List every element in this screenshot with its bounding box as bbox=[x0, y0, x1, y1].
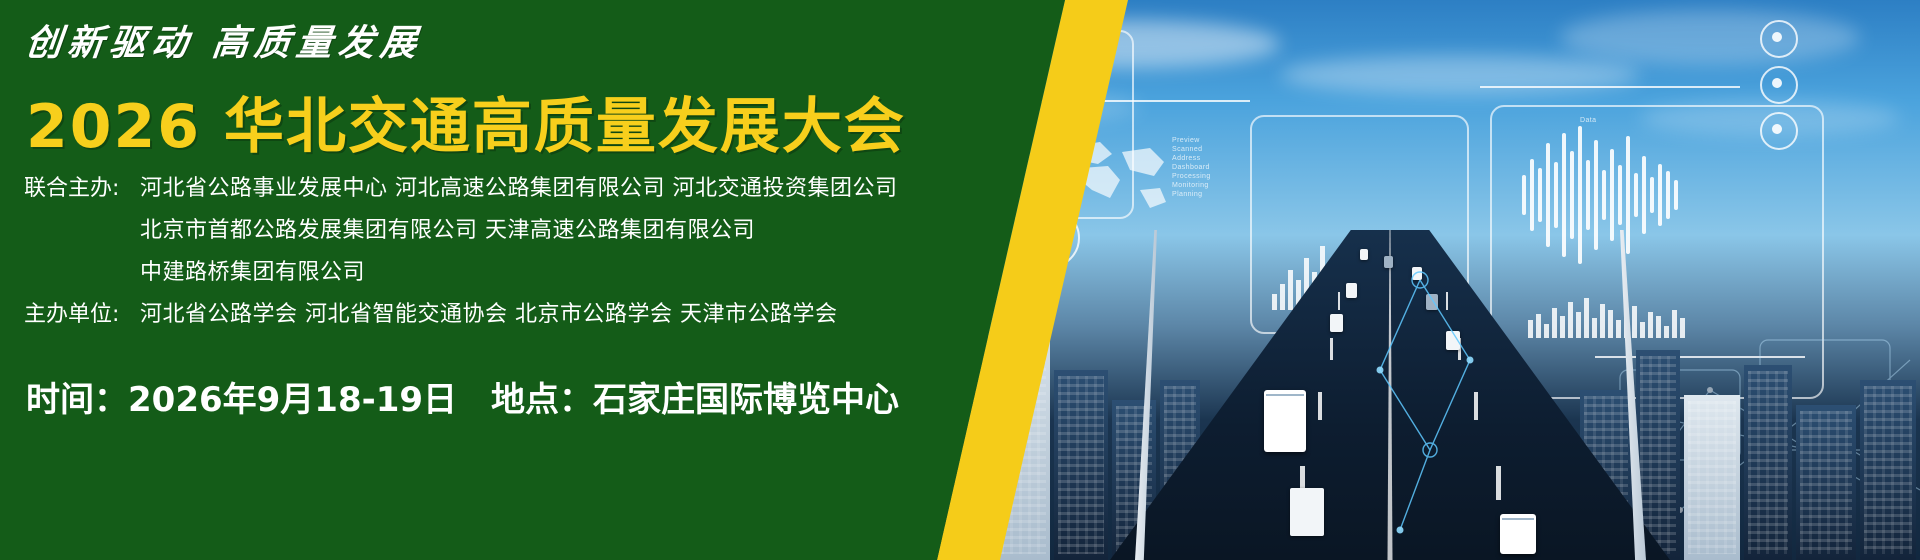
building bbox=[1860, 380, 1916, 560]
hud-label-left: Preview Scanned Address Dashboard Proces… bbox=[1172, 136, 1211, 199]
vehicle bbox=[1446, 331, 1460, 350]
node-dot-icon bbox=[1772, 124, 1782, 134]
host-value: 河北省公路学会 河北省智能交通协会 北京市公路学会 天津市公路学会 bbox=[140, 294, 837, 336]
truck bbox=[1500, 514, 1536, 554]
lane-marking bbox=[1330, 338, 1333, 360]
organizer-value: 河北省公路事业发展中心 河北高速公路集团有限公司 河北交通投资集团公司 bbox=[140, 168, 898, 210]
node-dot-icon bbox=[1772, 78, 1782, 88]
organizers-block: 联合主办: 河北省公路事业发展中心 河北高速公路集团有限公司 河北交通投资集团公… bbox=[24, 168, 1024, 336]
lane-marking bbox=[1318, 392, 1322, 420]
organizer-value: 中建路桥集团有限公司 bbox=[140, 252, 365, 294]
hud-label-right: Data bbox=[1580, 116, 1596, 125]
lane-marking bbox=[1496, 466, 1501, 500]
event-time: 时间： 2026年9月18-19日 bbox=[26, 372, 457, 421]
conference-banner: Preview Scanned Address Dashboard Proces… bbox=[0, 0, 1920, 560]
building bbox=[1796, 405, 1856, 560]
place-label: 地点： bbox=[491, 372, 593, 421]
vehicle bbox=[1330, 314, 1343, 332]
building bbox=[1744, 365, 1792, 560]
vehicle bbox=[1412, 267, 1422, 280]
vehicle bbox=[1384, 256, 1393, 268]
event-place: 地点： 石家庄国际博览中心 bbox=[491, 372, 899, 421]
vehicle bbox=[1426, 294, 1438, 310]
time-value: 2026年9月18-19日 bbox=[128, 372, 457, 421]
node-dot-icon bbox=[1772, 32, 1782, 42]
lane-marking bbox=[1446, 292, 1448, 310]
hud-divider bbox=[1480, 86, 1740, 88]
organizer-label: 联合主办: bbox=[24, 168, 140, 210]
time-label: 时间： bbox=[26, 372, 128, 421]
lane-marking bbox=[1338, 292, 1340, 310]
host-row: 主办单位: 河北省公路学会 河北省智能交通协会 北京市公路学会 天津市公路学会 bbox=[24, 294, 1024, 336]
truck bbox=[1264, 390, 1306, 452]
organizer-row: 联合主办: 北京市首都公路发展集团有限公司 天津高速公路集团有限公司 bbox=[24, 210, 1024, 252]
building bbox=[1054, 370, 1108, 560]
building-highlight bbox=[1684, 395, 1740, 560]
cloud-icon bbox=[1560, 10, 1860, 65]
host-label: 主办单位: bbox=[24, 294, 140, 336]
organizer-value: 北京市首都公路发展集团有限公司 天津高速公路集团有限公司 bbox=[140, 210, 755, 252]
organizer-row: 联合主办: 河北省公路事业发展中心 河北高速公路集团有限公司 河北交通投资集团公… bbox=[24, 168, 1024, 210]
vehicle bbox=[1290, 488, 1324, 536]
organizer-row: 联合主办: 中建路桥集团有限公司 bbox=[24, 252, 1024, 294]
slogan-text: 创新驱动 高质量发展 bbox=[23, 14, 425, 66]
vehicle bbox=[1360, 249, 1368, 260]
banner-text-content: 创新驱动 高质量发展 2026 华北交通高质量发展大会 联合主办: 河北省公路事… bbox=[0, 0, 1060, 560]
cloud-icon bbox=[1280, 55, 1640, 95]
vehicle bbox=[1346, 283, 1357, 298]
lane-marking bbox=[1474, 392, 1478, 420]
place-value: 石家庄国际博览中心 bbox=[593, 372, 899, 421]
event-details: 时间： 2026年9月18-19日 地点： 石家庄国际博览中心 bbox=[26, 372, 899, 421]
conference-title: 2026 华北交通高质量发展大会 bbox=[26, 78, 906, 165]
